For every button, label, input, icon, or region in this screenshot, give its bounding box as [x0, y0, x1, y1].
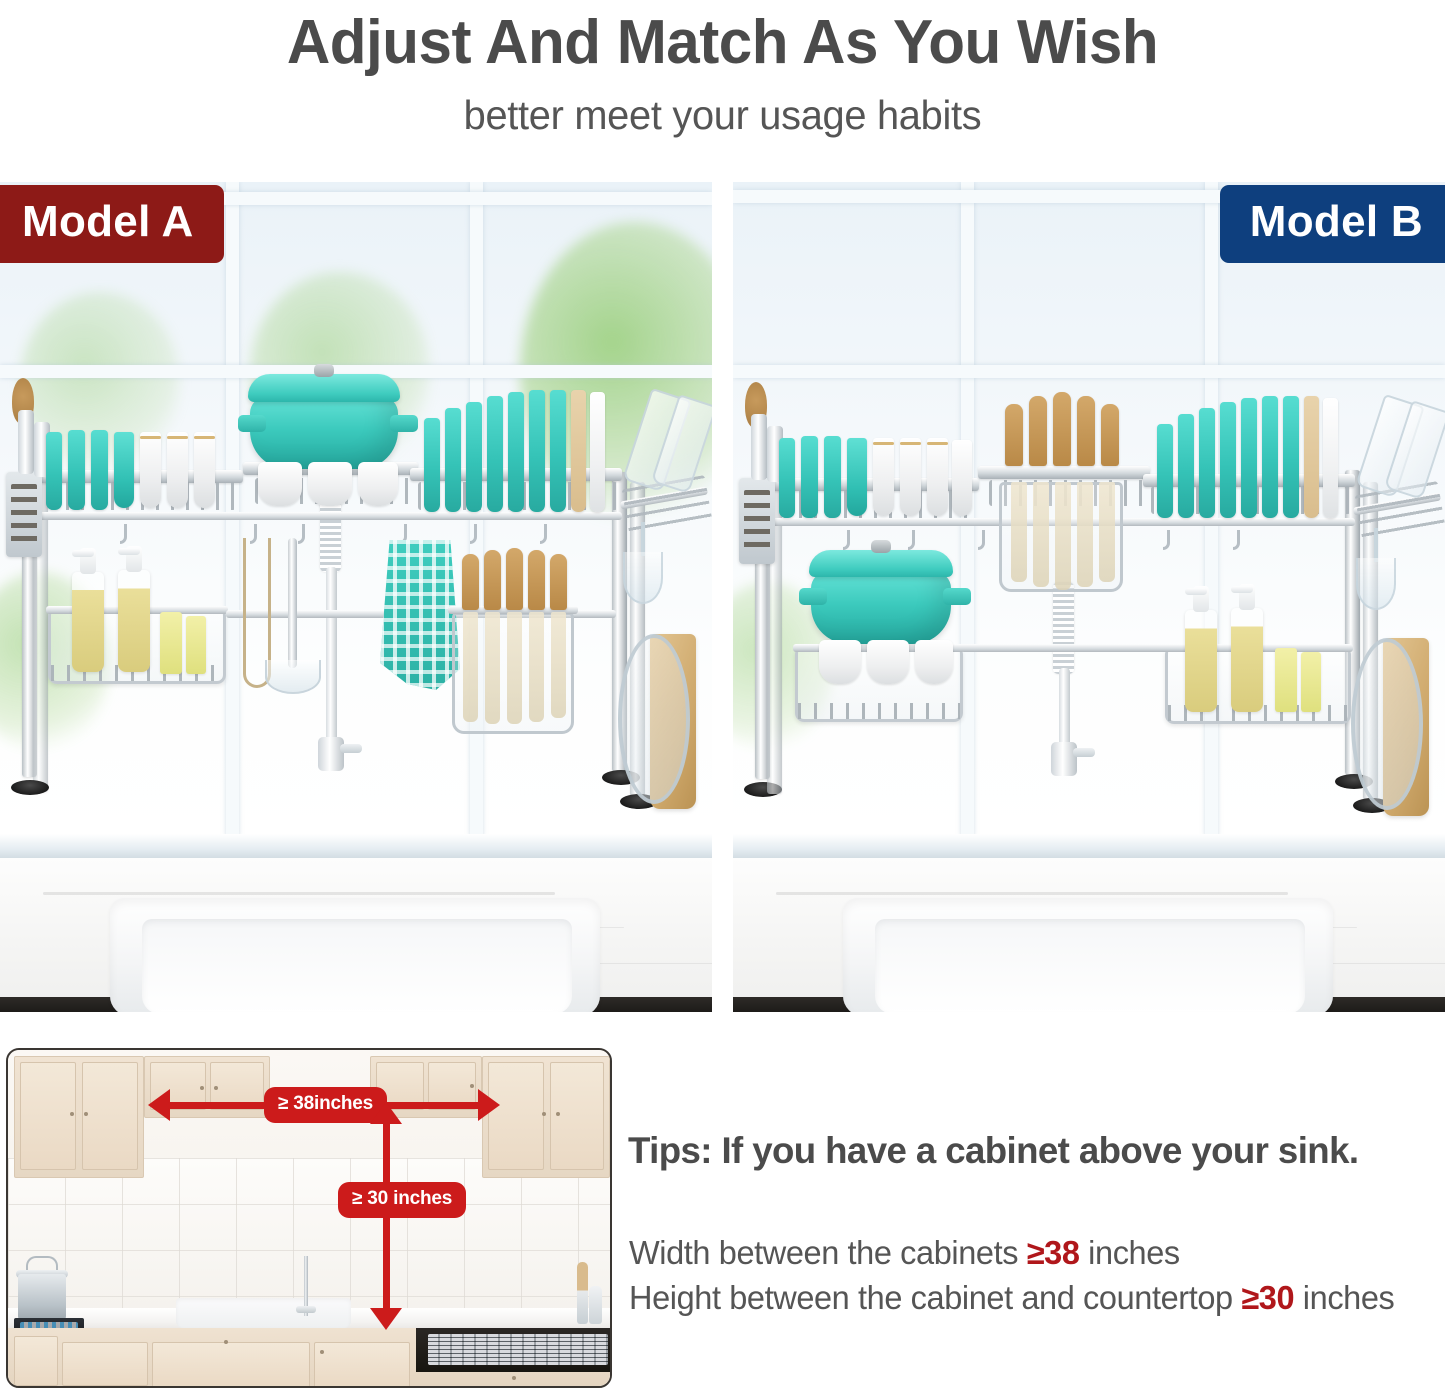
cabinet-knob [224, 1340, 228, 1344]
kitchen-faucet-spout [296, 1306, 316, 1313]
bowl-white [167, 432, 188, 508]
cabinet-knob [214, 1086, 218, 1090]
model-a-panel: Model A [0, 182, 712, 1012]
plate-teal [1220, 402, 1236, 518]
knife-blade [1055, 482, 1071, 590]
plate-teal [445, 408, 461, 512]
tips-line-width-pre: Width between the cabinets [629, 1234, 1027, 1271]
tips-lines: Width between the cabinets ≥38 inches He… [629, 1230, 1441, 1320]
teal-pot-lid [248, 374, 400, 402]
soap-bottle [118, 570, 150, 672]
faucet-spout [1073, 748, 1095, 757]
ladle-handle [288, 538, 297, 668]
lower-cabinet-door [314, 1342, 410, 1388]
pan-lid [1351, 638, 1423, 810]
model-a-scene [0, 182, 712, 1012]
tips-line-height-value: ≥30 [1241, 1279, 1294, 1316]
teal-pot-lid [809, 550, 953, 577]
soap-pump [1239, 584, 1255, 610]
knife-blade [529, 612, 544, 722]
plate-white [590, 392, 605, 512]
knife-blade [1033, 482, 1049, 587]
bowl-teal [114, 432, 134, 508]
cabinet-knob [200, 1086, 204, 1090]
knife-blade [485, 612, 500, 724]
knife-handle [1029, 396, 1047, 466]
wine-glass [623, 552, 663, 604]
model-b-badge: Model B [1220, 185, 1445, 263]
ladle-bowl [265, 660, 321, 694]
knife-blade [1099, 482, 1115, 582]
window-sill [733, 834, 1445, 860]
plate-teal [1157, 424, 1173, 518]
cabinet-door [20, 1062, 76, 1170]
gold-rim [140, 436, 161, 439]
tips-line-width-value: ≥38 [1027, 1234, 1080, 1271]
teal-pot-body [811, 572, 951, 644]
sponge [186, 616, 206, 674]
tips-line-width-post: inches [1080, 1234, 1180, 1271]
bowl-white-under-pot [915, 640, 953, 684]
plate-teal [487, 396, 503, 512]
rack-foot [11, 780, 49, 795]
cabinet-door [82, 1062, 138, 1170]
bowl-white-under-pot [258, 462, 302, 506]
page-title: Adjust And Match As You Wish [22, 6, 1424, 80]
wine-glass-stem [1374, 528, 1378, 562]
tips-line-width: Width between the cabinets ≥38 inches [629, 1230, 1429, 1275]
teal-pot-handle [390, 415, 418, 432]
fork [751, 414, 767, 480]
model-a-badge: Model A [0, 185, 224, 263]
teal-pot-handle [799, 588, 827, 605]
tips-line-height: Height between the cabinet and counterto… [629, 1275, 1429, 1320]
knife-blade [1011, 482, 1027, 582]
plate-teal [46, 432, 62, 510]
width-dimension-badge: ≥ 38inches [264, 1087, 387, 1123]
page-subtitle: better meet your usage habits [22, 90, 1424, 140]
faucet-column [326, 567, 337, 757]
knife-handle [1005, 404, 1023, 466]
bowl-white-under-pot [867, 640, 909, 684]
knife-handle [462, 554, 479, 610]
lower-cabinet-door [152, 1342, 310, 1388]
knife-handle [1053, 392, 1071, 466]
knife-handle [1077, 396, 1095, 466]
soap-pump [80, 548, 96, 574]
tips-block: Tips: If you have a cabinet above your s… [628, 1128, 1440, 1174]
plate-teal [1241, 398, 1257, 518]
plate-teal [529, 390, 545, 512]
plate-teal [1262, 396, 1278, 518]
mid-rail [30, 512, 622, 520]
fork [18, 410, 34, 474]
hanging-towel [380, 540, 460, 690]
gold-rim [194, 436, 215, 439]
width-arrow-left-head [148, 1089, 170, 1121]
salt-shaker [589, 1286, 602, 1324]
utensil-holder [6, 472, 42, 557]
plate-teal [779, 438, 795, 518]
plate-wood [1304, 396, 1319, 518]
plate-teal [91, 430, 108, 510]
kitchen-clearance-photo: ≥ 38inches ≥ 30 inches [6, 1048, 612, 1388]
sponge [1275, 648, 1297, 712]
faucet-head [318, 737, 344, 771]
plate-teal [550, 390, 566, 512]
kitchen-sink [176, 1298, 351, 1328]
plate-white [1323, 398, 1338, 518]
knife-blade [551, 612, 566, 718]
bowl-white [900, 438, 921, 516]
plate-teal [68, 430, 85, 510]
cabinet-door [550, 1062, 604, 1170]
sponge [160, 612, 182, 674]
cabinet-knob [70, 1112, 74, 1116]
plate-teal [801, 436, 818, 518]
header: Adjust And Match As You Wish better meet… [0, 0, 1445, 175]
lower-cabinet-door [62, 1342, 148, 1386]
plate-teal [824, 436, 841, 518]
plate-teal [1178, 414, 1194, 518]
bowl-white [194, 432, 215, 508]
model-b-scene [733, 182, 1445, 1012]
plate-teal [1283, 396, 1299, 518]
height-dimension-badge: ≥ 30 inches [338, 1182, 466, 1218]
window-sill [0, 834, 712, 860]
height-arrow-bottom-head [370, 1308, 402, 1330]
faucet-coil [1053, 582, 1074, 674]
lower-cabinet-door [14, 1336, 58, 1386]
soap-bottle [72, 572, 104, 672]
soap-pump [1193, 586, 1209, 612]
sponge [1301, 652, 1321, 712]
knife-blade [1077, 482, 1093, 587]
knife-handle [550, 554, 567, 610]
sink-inner [142, 919, 572, 1012]
bowl-white [952, 440, 972, 516]
plate-teal [508, 392, 524, 512]
knife-blade [463, 612, 478, 722]
cabinet-knob [84, 1112, 88, 1116]
bowl-teal [847, 438, 867, 516]
tips-line-height-post: inches [1294, 1279, 1394, 1316]
knife-handle [1101, 404, 1119, 466]
gold-rim [167, 436, 188, 439]
plate-teal [466, 402, 482, 512]
window-mullion [733, 365, 1445, 378]
width-arrow-right-head [478, 1089, 500, 1121]
teal-pot-handle [943, 588, 971, 605]
soap-bottle [1185, 610, 1217, 712]
model-b-panel: Model B [733, 182, 1445, 1012]
plate-teal [424, 418, 440, 512]
sink-inner [875, 919, 1305, 1012]
bowl-white [927, 438, 948, 516]
teal-pot-body [250, 397, 398, 469]
plate-wood [571, 390, 586, 512]
teal-pot-handle [238, 415, 266, 432]
cabinet-knob [470, 1084, 474, 1088]
wine-glass [1356, 558, 1396, 610]
infographic-page: Adjust And Match As You Wish better meet… [0, 0, 1445, 1394]
utensil-holder [739, 478, 775, 564]
cabinet-knob [512, 1376, 516, 1380]
bowl-white [873, 438, 894, 516]
tips-title: Tips: If you have a cabinet above your s… [628, 1128, 1432, 1174]
cabinet-knob [542, 1112, 546, 1116]
pan-lid [618, 634, 690, 804]
gold-rim [873, 442, 894, 445]
knife-handle [528, 550, 545, 610]
gold-rim [900, 442, 921, 445]
knife-handle [484, 550, 501, 610]
soap-pump [126, 546, 142, 572]
plate-teal [1199, 408, 1215, 518]
knife-handle [506, 548, 523, 610]
top-shelf-bar [978, 466, 1150, 479]
knife-blade [507, 612, 522, 724]
soap-bottle [1231, 608, 1263, 712]
cabinet-knob [320, 1350, 324, 1354]
teal-pot-knob [314, 364, 334, 377]
wine-glass-stem [641, 522, 645, 556]
stock-pot [18, 1274, 66, 1322]
pepper-mill [577, 1262, 588, 1324]
gold-rim [927, 442, 948, 445]
cabinet-knob [556, 1112, 560, 1116]
teal-pot-knob [871, 540, 891, 553]
bowl-white-under-pot [358, 462, 398, 506]
faucet-spout [340, 744, 362, 753]
faucet-head [1051, 742, 1077, 776]
bowl-white [140, 432, 161, 508]
bowl-white-under-pot [308, 462, 352, 506]
tips-line-height-pre: Height between the cabinet and counterto… [629, 1279, 1241, 1316]
bowl-white-under-pot [819, 640, 861, 684]
dishwasher-vent-grille [428, 1334, 608, 1365]
